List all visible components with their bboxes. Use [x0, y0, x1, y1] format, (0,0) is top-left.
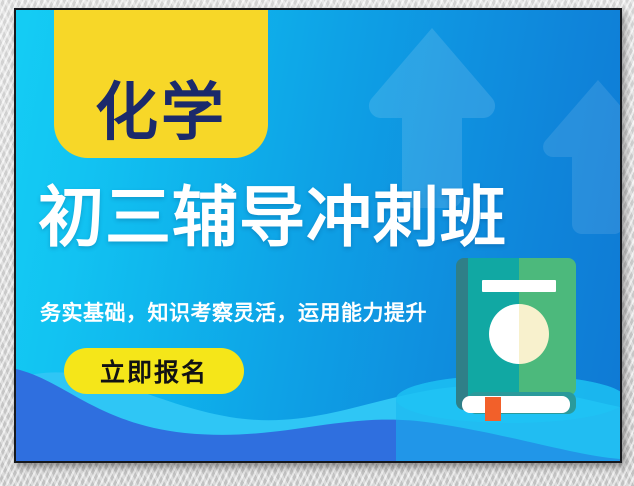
enroll-now-button[interactable]: 立即报名	[64, 348, 244, 394]
banner-frame: 化学 初三辅导冲刺班 务实基础，知识考察灵活，运用能力提升 立即报名	[14, 8, 622, 463]
subject-badge: 化学	[54, 10, 268, 158]
promo-banner: 化学 初三辅导冲刺班 务实基础，知识考察灵活，运用能力提升 立即报名	[16, 10, 620, 461]
book-illustration	[456, 256, 582, 421]
subtitle-text: 务实基础，知识考察灵活，运用能力提升	[40, 297, 427, 327]
up-arrow-icon	[542, 76, 620, 236]
page-title: 初三辅导冲刺班	[38, 182, 507, 253]
desktop-backdrop: 化学 初三辅导冲刺班 务实基础，知识考察灵活，运用能力提升 立即报名	[0, 0, 634, 486]
subject-badge-label: 化学	[95, 81, 227, 144]
